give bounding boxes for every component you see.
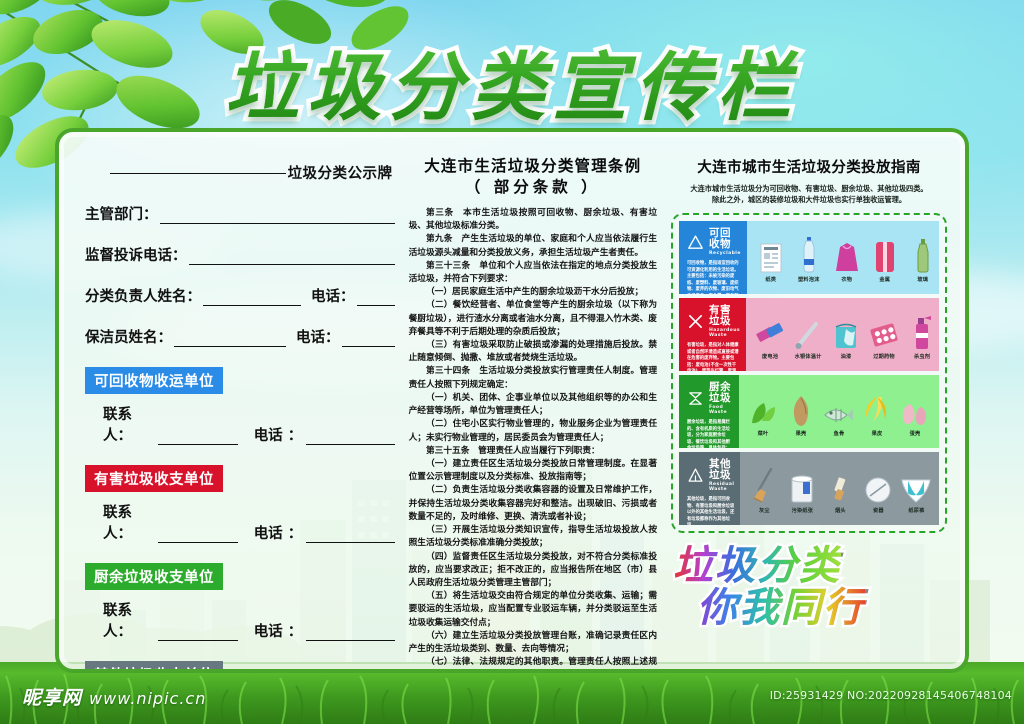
guide-item: 纸类 bbox=[752, 233, 790, 283]
category-row-hazardous: 有害垃圾 Hazardous Waste 有害垃圾，是指对人体健康或者自然环境造… bbox=[679, 298, 939, 371]
guide-item-label: 废电池 bbox=[762, 353, 778, 360]
category-row-residual: 其他垃圾 Residual Waste 其他垃圾，是指可回收物、有害垃圾和厨余垃… bbox=[679, 452, 939, 525]
regulation-paragraph: （一）建立责任区生活垃圾分类投放日常管理制度。在显著位置公示管理制度以及分类标准… bbox=[409, 458, 657, 484]
unit-food-waste: 厨余垃圾收支单位 联系人： 电话 ： bbox=[85, 563, 395, 641]
guide-item-label: 过期药物 bbox=[873, 353, 895, 360]
category-name-en: Hazardous Waste bbox=[709, 328, 740, 338]
input-manager-phone[interactable] bbox=[357, 291, 395, 306]
regulation-paragraph: （二）餐饮经营者、单位食堂等产生的厨余垃圾（以下称为餐厨垃圾），进行渣水分离或者… bbox=[409, 299, 657, 339]
fish-bone-icon bbox=[823, 403, 855, 427]
unit-contact-label: 联系人： bbox=[103, 501, 154, 543]
battery-icon bbox=[755, 320, 785, 350]
guide-item: 果壳 bbox=[782, 387, 820, 437]
guide-item-label: 油漆 bbox=[841, 353, 852, 360]
category-description: 厨余垃圾，是指易腐烂的、含有机质的生活垃圾，分为家庭厨余垃圾、餐饮垃圾和其他厨余… bbox=[687, 420, 733, 448]
category-description: 有害垃圾，是指对人体健康或者自然环境造成直接或潜在危害的废弃物。主要包括：废电池… bbox=[687, 343, 740, 371]
guide-item-label: 鱼骨 bbox=[834, 430, 845, 437]
food-waste-icon bbox=[687, 390, 704, 407]
guide-item: 水银体温计 bbox=[789, 310, 827, 360]
input-cleaner-phone[interactable] bbox=[342, 332, 395, 347]
category-description: 其他垃圾，是指可回收物、有害垃圾和厨余垃圾以外的其他生活垃圾，还有垃圾都称作为其… bbox=[687, 497, 734, 525]
category-name-en: Recyclable bbox=[709, 251, 741, 256]
site-brand[interactable]: 昵享网www.nipic.cn bbox=[22, 683, 206, 710]
input-recyclable-contact[interactable] bbox=[158, 430, 237, 445]
residual-waste-icon bbox=[687, 467, 704, 484]
guide-item: 灰尘 bbox=[745, 464, 783, 514]
regulation-body: 第三条 本市生活垃圾按照可回收物、厨余垃圾、有害垃圾、其他垃圾标准分类。 第九条… bbox=[409, 207, 657, 673]
guide-item-label: 蛋壳 bbox=[910, 430, 921, 437]
regulation-paragraph: 第三条 本市生活垃圾按照可回收物、厨余垃圾、有害垃圾、其他垃圾标准分类。 bbox=[409, 207, 657, 233]
regulation-title: 大连市生活垃圾分类管理条例 （ 部分条款 ） bbox=[409, 156, 657, 198]
content-panel: 垃圾分类公示牌 主管部门： 监督投诉电话： 分类负责人姓名： 电话： bbox=[55, 128, 969, 673]
category-name: 可回收物 bbox=[709, 228, 741, 250]
slogan-block: 垃圾分类 垃圾分类 你我同行 你我同行 bbox=[671, 545, 947, 637]
poster-root: 垃圾分类宣传栏 垃圾分类宣传栏 垃圾分类公示牌 主管部门： 监督投诉电话： 分类… bbox=[0, 0, 1024, 724]
input-recyclable-phone[interactable] bbox=[306, 430, 394, 445]
slogan-line-2: 你我同行 bbox=[697, 587, 865, 629]
soiled-paper-icon bbox=[789, 474, 815, 504]
thermometer-icon bbox=[794, 320, 822, 350]
guide-item-label: 塑料泡沫 bbox=[798, 276, 820, 283]
regulation-paragraph: 第三十五条 管理责任人应当履行下列职责： bbox=[409, 445, 657, 458]
field-classification-manager: 分类负责人姓名： 电话： bbox=[85, 285, 395, 306]
broom-dust-icon bbox=[751, 468, 777, 504]
guide-item: 污染纸张 bbox=[783, 464, 821, 514]
unit-tag-food-waste: 厨余垃圾收支单位 bbox=[85, 563, 223, 590]
regulation-paragraph: （四）监督责任区生活垃圾分类投放，对不符合分类标准投放的，应当要求改正；拒不改正… bbox=[409, 551, 657, 591]
category-row-recyclable: 可回收物 Recyclable 可回收物，是指适宜回收的可资源化利用的生活垃圾。… bbox=[679, 221, 939, 294]
regulation-paragraph: （五）将生活垃圾交由符合规定的单位分类收集、运输；需要驳运的生活垃圾，应当配置专… bbox=[409, 590, 657, 630]
guide-title: 大连市城市生活垃圾分类投放指南 bbox=[671, 156, 947, 177]
guide-item-label: 纸类 bbox=[765, 276, 776, 283]
category-name: 厨余垃圾 bbox=[709, 382, 733, 404]
unit-recyclable: 可回收物收运单位 联系人： 电话 ： bbox=[85, 367, 395, 445]
input-food-contact[interactable] bbox=[158, 626, 237, 641]
hazard-cross-icon bbox=[687, 313, 704, 330]
input-cleaner-name[interactable] bbox=[174, 332, 286, 347]
guide-item-label: 污染纸张 bbox=[792, 507, 814, 514]
field-supervising-department: 主管部门： bbox=[85, 203, 395, 224]
glass-bottle-icon bbox=[915, 239, 931, 273]
insecticide-spray-icon bbox=[911, 316, 933, 350]
guide-item: 杀虫剂 bbox=[903, 310, 939, 360]
regulation-paragraph: （六）建立生活垃圾分类投放管理台账，准确记录责任区内产生的生活垃圾类别、数量、去… bbox=[409, 630, 657, 656]
cigarette-butt-icon bbox=[830, 474, 850, 504]
regulation-paragraph: （二）住宅小区实行物业管理的，物业服务企业为管理责任人；未实行物业管理的，居民委… bbox=[409, 418, 657, 444]
guide-item: 过期药物 bbox=[865, 310, 903, 360]
guide-item: 果皮 bbox=[858, 387, 896, 437]
unit-phone-label: 电话 ： bbox=[254, 424, 303, 445]
paper-icon bbox=[759, 243, 783, 273]
guide-item-label: 灰尘 bbox=[759, 507, 770, 514]
guide-item: 菜叶 bbox=[744, 387, 782, 437]
unit-contact-label: 联系人： bbox=[103, 599, 154, 641]
guide-item: 纸尿裤 bbox=[897, 464, 935, 514]
guide-item: 塑料泡沫 bbox=[790, 233, 828, 283]
guide-item: 衣物 bbox=[828, 233, 866, 283]
guide-item-label: 纸尿裤 bbox=[908, 507, 924, 514]
unit-tag-hazardous: 有害垃圾收支单位 bbox=[85, 465, 223, 492]
guide-item-label: 玻璃 bbox=[917, 276, 928, 283]
category-name-en: Residual Waste bbox=[709, 482, 734, 492]
unit-phone-label: 电话 ： bbox=[254, 522, 303, 543]
unit-contact-label: 联系人： bbox=[103, 403, 154, 445]
category-description: 可回收物，是指适宜回收的可资源化利用的生活垃圾。主要包括：未被污染的废纸、废塑料… bbox=[687, 261, 741, 294]
notice-title-blank bbox=[110, 173, 286, 174]
guide-subtitle: 大连市城市生活垃圾分为可回收物、有害垃圾、厨余垃圾、其他垃圾四类。 除此之外，城… bbox=[671, 183, 947, 205]
guide-item: 鱼骨 bbox=[820, 387, 858, 437]
category-name: 有害垃圾 bbox=[709, 305, 740, 327]
diaper-icon bbox=[900, 478, 932, 504]
unit-hazardous: 有害垃圾收支单位 联系人： 电话 ： bbox=[85, 465, 395, 543]
unit-phone-label: 电话 ： bbox=[254, 620, 303, 641]
broken-ceramic-icon bbox=[864, 476, 892, 504]
category-name: 其他垃圾 bbox=[709, 459, 734, 481]
regulation-paragraph: （一）机关、团体、企事业单位以及其他组织等的办公和生产经营等场所，单位为管理责任… bbox=[409, 392, 657, 418]
regulation-paragraph: （二）负责生活垃圾分类收集容器的设置及日常维护工作，并保持生活垃圾分类收集容器完… bbox=[409, 484, 657, 524]
regulation-paragraph: 第九条 产生生活垃圾的单位、家庭和个人应当依法履行生活垃圾源头减量和分类投放义务… bbox=[409, 233, 657, 259]
public-notice-column: 垃圾分类公示牌 主管部门： 监督投诉电话： 分类负责人姓名： 电话： bbox=[73, 150, 401, 659]
regulation-paragraph: （七）法律、法规规定的其他职责。管理责任人按照上述规定履行管理职责的，有关单位和… bbox=[409, 656, 657, 673]
plastic-bottle-icon bbox=[801, 237, 817, 273]
regulation-paragraph: 第三十三条 单位和个人应当依法在指定的地点分类投放生活垃圾，并符合下列要求： bbox=[409, 260, 657, 286]
guide-item-label: 杀虫剂 bbox=[914, 353, 930, 360]
input-hazardous-phone[interactable] bbox=[306, 528, 394, 543]
guide-item-label: 菜叶 bbox=[758, 430, 769, 437]
guide-item: 瓷器 bbox=[859, 464, 897, 514]
unit-tag-recyclable: 可回收物收运单位 bbox=[85, 367, 223, 394]
guide-item-label: 瓷器 bbox=[873, 507, 884, 514]
guide-item-label: 金属 bbox=[879, 276, 890, 283]
guide-item-label: 衣物 bbox=[841, 276, 852, 283]
brand-url: www.nipic.cn bbox=[89, 689, 206, 708]
clothing-icon bbox=[834, 241, 860, 273]
field-complaint-phone: 监督投诉电话： bbox=[85, 244, 395, 265]
guide-item: 油漆 bbox=[827, 310, 865, 360]
waste-category-guide: 可回收物 Recyclable 可回收物，是指适宜回收的可资源化利用的生活垃圾。… bbox=[671, 213, 947, 533]
input-manager-name[interactable] bbox=[203, 291, 301, 306]
guide-item-label: 果皮 bbox=[872, 430, 883, 437]
regulation-paragraph: （三）有害垃圾采取防止破损或渗漏的处理措施后投放。禁止随意倾倒、抛撒、堆放或者焚… bbox=[409, 339, 657, 365]
guide-item-label: 果壳 bbox=[796, 430, 807, 437]
eggshell-icon bbox=[901, 401, 929, 427]
input-food-phone[interactable] bbox=[306, 626, 394, 641]
field-cleaner: 保洁员姓名： 电话： bbox=[85, 326, 395, 347]
guide-column: 大连市城市生活垃圾分类投放指南 大连市城市生活垃圾分为可回收物、有害垃圾、厨余垃… bbox=[665, 150, 951, 659]
category-name-en: Food Waste bbox=[709, 405, 733, 415]
guide-item-label: 水银体温计 bbox=[795, 353, 822, 360]
unit-residual: 其他垃圾收支单位 联系人： 话：： bbox=[85, 661, 395, 673]
guide-item: 金属 bbox=[866, 233, 904, 283]
input-supervising-department[interactable] bbox=[160, 209, 395, 224]
regulation-paragraph: 第三十四条 生活垃圾分类投放实行管理责任人制度。管理责任人按照下列规定确定： bbox=[409, 365, 657, 391]
guide-item: 烟头 bbox=[821, 464, 859, 514]
image-id-label: ID:25931429 NO:20220928145406748104 bbox=[770, 689, 1012, 702]
guide-item: 玻璃 bbox=[904, 233, 939, 283]
regulation-column: 大连市生活垃圾分类管理条例 （ 部分条款 ） 第三条 本市生活垃圾按照可回收物、… bbox=[401, 150, 665, 659]
vegetable-leaf-icon bbox=[748, 397, 778, 427]
guide-item: 蛋壳 bbox=[896, 387, 934, 437]
expired-medicine-icon bbox=[870, 322, 898, 350]
nut-shell-icon bbox=[791, 395, 811, 427]
regulation-subtitle: （ 部分条款 ） bbox=[409, 177, 657, 198]
brand-name: 昵享网 bbox=[22, 687, 82, 709]
guide-item: 废电池 bbox=[751, 310, 789, 360]
category-row-food-waste: 厨余垃圾 Food Waste 厨余垃圾，是指易腐烂的、含有机质的生活垃圾，分为… bbox=[679, 375, 939, 448]
notice-board-title: 垃圾分类公示牌 bbox=[85, 162, 395, 183]
regulation-paragraph: （三）开展生活垃圾分类知识宣传，指导生活垃圾投放人按照生活垃圾分类标准准确分类投… bbox=[409, 524, 657, 550]
poster-title-outline: 垃圾分类宣传栏 bbox=[0, 28, 1024, 135]
input-hazardous-contact[interactable] bbox=[158, 528, 237, 543]
slogan-line-1: 垃圾分类 bbox=[673, 545, 841, 587]
recycle-triangle-icon bbox=[687, 234, 704, 251]
regulation-paragraph: （一）居民家庭生活中产生的厨余垃圾沥干水分后投放； bbox=[409, 286, 657, 299]
unit-tag-residual: 其他垃圾收支单位 bbox=[85, 661, 223, 673]
banana-peel-icon bbox=[862, 395, 892, 427]
input-complaint-phone[interactable] bbox=[189, 250, 395, 265]
guide-item-label: 烟头 bbox=[835, 507, 846, 514]
metal-can-icon bbox=[874, 241, 896, 273]
paint-bucket-icon bbox=[832, 320, 860, 350]
